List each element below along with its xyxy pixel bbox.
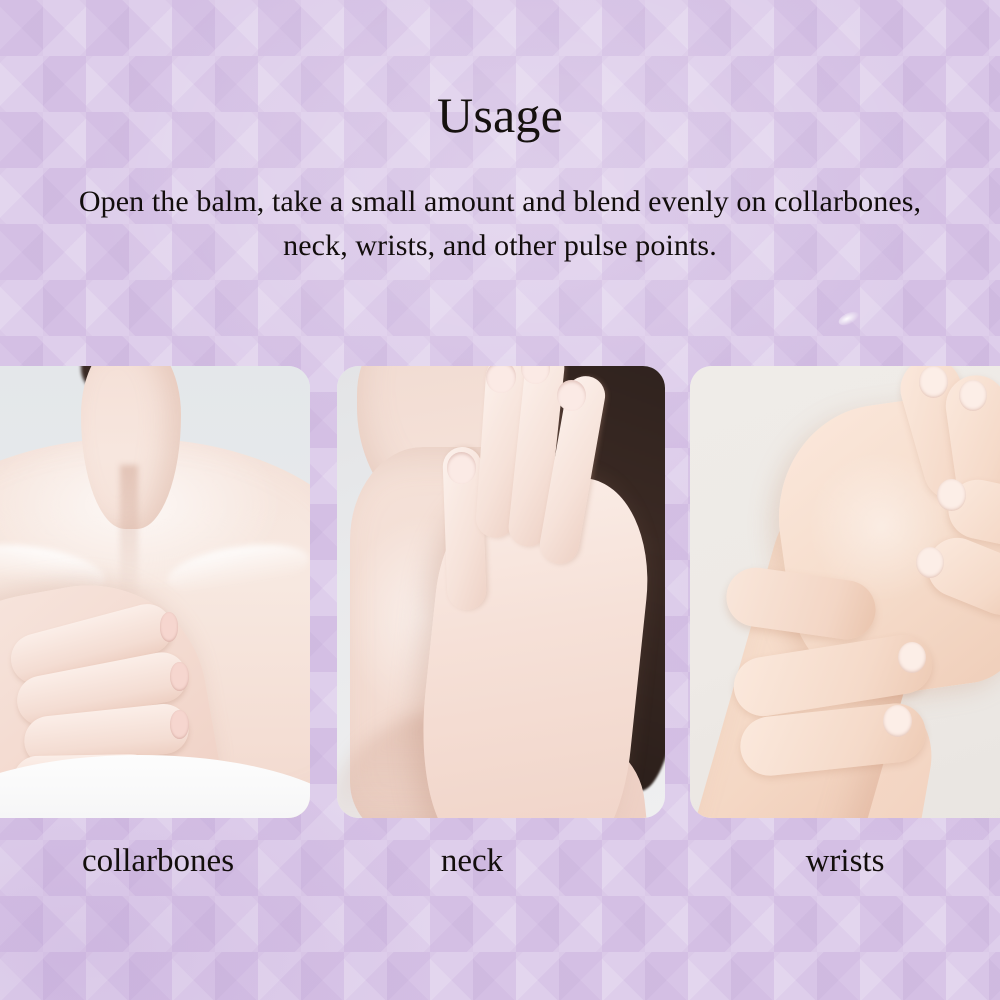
caption-neck: neck bbox=[337, 838, 607, 884]
photo-panel-neck bbox=[337, 366, 665, 818]
sternum-shadow bbox=[120, 465, 138, 601]
fingernail-6 bbox=[883, 705, 912, 737]
header-block: Usage Open the balm, take a small amount… bbox=[0, 0, 1000, 268]
page-title: Usage bbox=[0, 86, 1000, 144]
photo-neck bbox=[337, 366, 665, 818]
photo-panel-wrists bbox=[690, 366, 1000, 818]
fingernail-3 bbox=[937, 479, 966, 511]
usage-infographic: Usage Open the balm, take a small amount… bbox=[0, 0, 1000, 1000]
fingernail-3 bbox=[170, 710, 189, 739]
caption-collarbones: collarbones bbox=[0, 838, 316, 884]
fingernail-4 bbox=[447, 452, 477, 484]
photo-panel-row bbox=[0, 366, 1000, 818]
caption-row: collarbones neck wrists bbox=[0, 838, 1000, 908]
fingernail-2 bbox=[959, 380, 988, 412]
photo-collarbones bbox=[0, 366, 310, 818]
fingernail-1 bbox=[160, 612, 179, 641]
photo-wrists bbox=[690, 366, 1000, 818]
usage-description: Open the balm, take a small amount and b… bbox=[0, 180, 1000, 268]
caption-wrists: wrists bbox=[690, 838, 1000, 884]
fingernail-1 bbox=[919, 366, 948, 398]
photo-panel-collarbones bbox=[0, 366, 310, 818]
